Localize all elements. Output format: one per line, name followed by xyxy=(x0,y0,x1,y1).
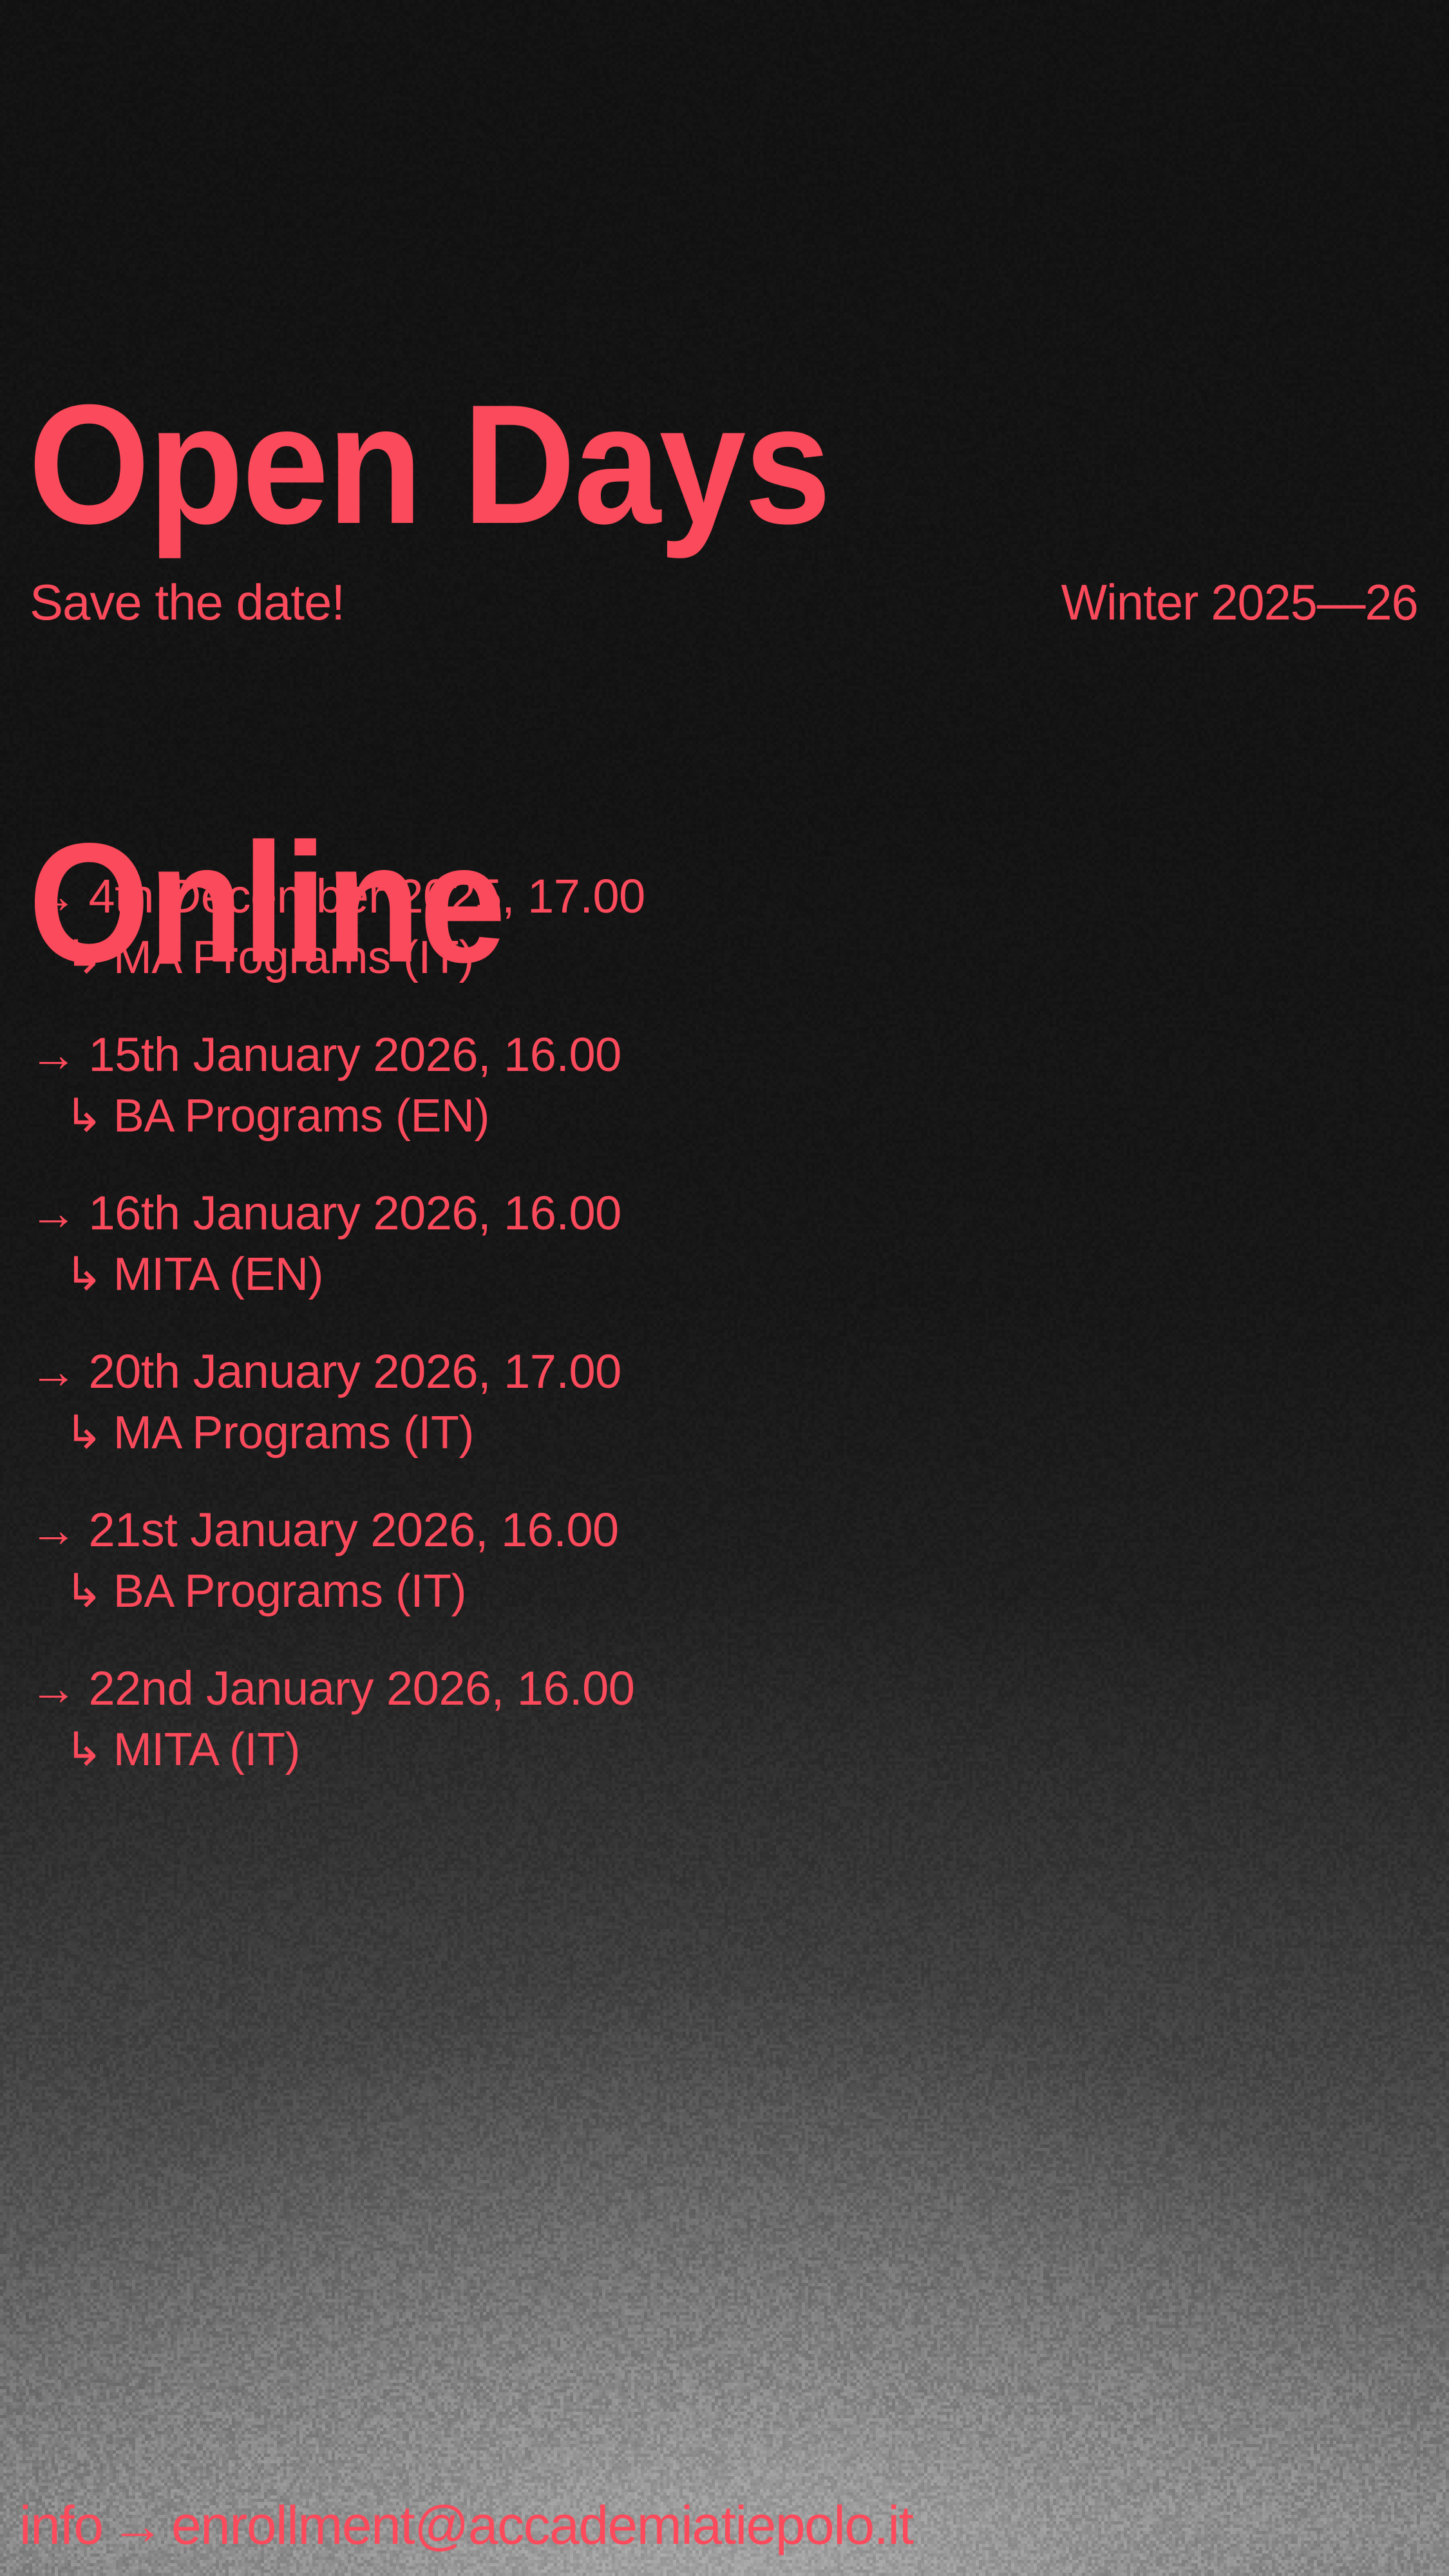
list-item: → 21st January 2026, 16.00 ↳ BA Programs… xyxy=(30,1506,1430,1615)
list-item: → 4th December 2025, 17.00 ↳ MA Programs… xyxy=(30,873,1430,981)
arrow-down-right-icon: ↳ xyxy=(64,1727,103,1773)
event-program-row: ↳ BA Programs (EN) xyxy=(30,1093,1430,1139)
event-date-row: → 20th January 2026, 17.00 xyxy=(30,1348,1430,1396)
arrow-down-right-icon: ↳ xyxy=(64,1568,103,1615)
arrow-right-icon: → xyxy=(30,1189,77,1237)
event-program-row: ↳ BA Programs (IT) xyxy=(30,1568,1430,1615)
contact-email-link[interactable]: enrollment@accademiatiepolo.it xyxy=(171,2494,913,2557)
event-date-text: 16th January 2026, 16.00 xyxy=(89,1189,621,1237)
list-item: → 16th January 2026, 16.00 ↳ MITA (EN) xyxy=(30,1189,1430,1298)
page-title-line-1: Open Days xyxy=(28,391,829,537)
event-date-text: 22nd January 2026, 16.00 xyxy=(89,1665,635,1712)
event-date-row: → 16th January 2026, 16.00 xyxy=(30,1189,1430,1237)
arrow-down-right-icon: ↳ xyxy=(64,1410,103,1456)
arrow-right-icon: → xyxy=(30,1506,77,1554)
list-item: → 22nd January 2026, 16.00 ↳ MITA (IT) xyxy=(30,1665,1430,1773)
arrow-down-right-icon: ↳ xyxy=(64,934,103,981)
contact-label: info xyxy=(19,2494,102,2557)
arrow-down-right-icon: ↳ xyxy=(64,1093,103,1139)
event-date-text: 4th December 2025, 17.00 xyxy=(89,873,645,920)
event-date-text: 20th January 2026, 17.00 xyxy=(89,1348,621,1396)
arrow-down-right-icon: ↳ xyxy=(64,1251,103,1298)
arrow-right-icon: → xyxy=(110,2494,164,2557)
event-date-text: 15th January 2026, 16.00 xyxy=(89,1031,621,1079)
poster-content: Open Days Online Save the date! Winter 2… xyxy=(0,0,1449,2576)
season-label: Winter 2025—26 xyxy=(1061,573,1417,632)
contact-footer: info → enrollment@accademiatiepolo.it xyxy=(19,2494,913,2557)
arrow-right-icon: → xyxy=(30,1665,77,1712)
event-program-text: MA Programs (IT) xyxy=(113,934,474,981)
arrow-right-icon: → xyxy=(30,1348,77,1396)
event-date-row: → 15th January 2026, 16.00 xyxy=(30,1031,1430,1079)
arrow-right-icon: → xyxy=(30,1031,77,1079)
poster-canvas: Open Days Online Save the date! Winter 2… xyxy=(0,0,1449,2576)
event-program-text: MA Programs (IT) xyxy=(113,1410,474,1456)
event-program-text: BA Programs (EN) xyxy=(113,1093,489,1139)
list-item: → 15th January 2026, 16.00 ↳ BA Programs… xyxy=(30,1031,1430,1139)
event-date-row: → 22nd January 2026, 16.00 xyxy=(30,1665,1430,1712)
event-program-text: BA Programs (IT) xyxy=(113,1568,466,1615)
event-program-row: ↳ MITA (EN) xyxy=(30,1251,1430,1298)
event-date-text: 21st January 2026, 16.00 xyxy=(89,1506,619,1554)
arrow-right-icon: → xyxy=(30,873,77,920)
list-item: → 20th January 2026, 17.00 ↳ MA Programs… xyxy=(30,1348,1430,1456)
event-program-text: MITA (IT) xyxy=(113,1727,300,1773)
schedule-list: → 4th December 2025, 17.00 ↳ MA Programs… xyxy=(30,873,1430,1773)
event-program-row: ↳ MITA (IT) xyxy=(30,1727,1430,1773)
event-program-row: ↳ MA Programs (IT) xyxy=(30,1410,1430,1456)
subtitle-row: Save the date! Winter 2025—26 xyxy=(30,573,1423,632)
event-program-row: ↳ MA Programs (IT) xyxy=(30,934,1430,981)
event-date-row: → 21st January 2026, 16.00 xyxy=(30,1506,1430,1554)
event-date-row: → 4th December 2025, 17.00 xyxy=(30,873,1430,920)
event-program-text: MITA (EN) xyxy=(113,1251,323,1298)
save-the-date-label: Save the date! xyxy=(30,573,345,632)
